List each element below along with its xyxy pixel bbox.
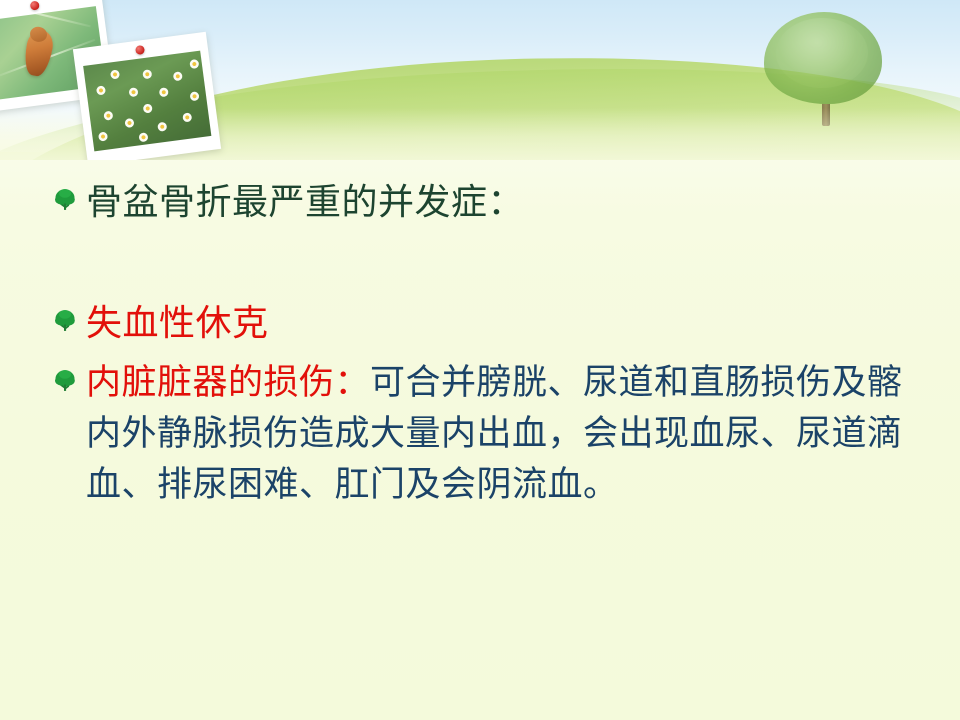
daisy-flower bbox=[157, 122, 167, 132]
bullet-row-title: 骨盆骨折最严重的并发症： bbox=[52, 176, 960, 228]
daisy-flower bbox=[124, 118, 134, 128]
title-text: 骨盆骨折最严重的并发症： bbox=[86, 176, 524, 228]
tree-bullet-icon bbox=[52, 368, 78, 394]
daisy-flower bbox=[98, 132, 108, 142]
daisy-flower bbox=[182, 112, 192, 122]
daisy-photo-image bbox=[83, 51, 211, 152]
daisy-flower bbox=[138, 132, 148, 142]
header-banner bbox=[0, 0, 960, 160]
organ-injury-label: 内脏脏器的损伤： bbox=[86, 363, 370, 402]
photo-pin-icon bbox=[135, 45, 145, 55]
daisy-flower bbox=[142, 69, 152, 79]
slide-content: 骨盆骨折最严重的并发症： 失血性休克 bbox=[0, 160, 960, 510]
slide-canvas: 骨盆骨折最严重的并发症： 失血性休克 bbox=[0, 0, 960, 720]
tree-bullet-icon bbox=[52, 308, 78, 334]
tree-bullet-icon bbox=[52, 187, 78, 213]
daisy-flower bbox=[173, 71, 183, 81]
tree-crown-highlight bbox=[776, 18, 868, 88]
organ-injury-paragraph: 内脏脏器的损伤：可合并膀胱、尿道和直肠损伤及髂内外静脉损伤造成大量内出血，会出现… bbox=[86, 357, 931, 510]
bullet-row-organ-injury: 内脏脏器的损伤：可合并膀胱、尿道和直肠损伤及髂内外静脉损伤造成大量内出血，会出现… bbox=[52, 357, 960, 510]
daisy-flower bbox=[190, 91, 200, 101]
bullet-row-shock: 失血性休克 bbox=[52, 297, 960, 349]
daisy-field-photo bbox=[73, 32, 221, 160]
daisy-flower bbox=[110, 69, 120, 79]
daisy-flower bbox=[189, 59, 199, 69]
shock-text: 失血性休克 bbox=[86, 297, 269, 349]
daisy-flower bbox=[128, 87, 138, 97]
daisy-flower bbox=[159, 87, 169, 97]
daisy-flower bbox=[96, 85, 106, 95]
daisy-flower bbox=[103, 111, 113, 121]
daisy-flower bbox=[143, 103, 153, 113]
photo-pin-icon bbox=[30, 1, 40, 11]
grass-blade-secondary bbox=[34, 12, 91, 27]
